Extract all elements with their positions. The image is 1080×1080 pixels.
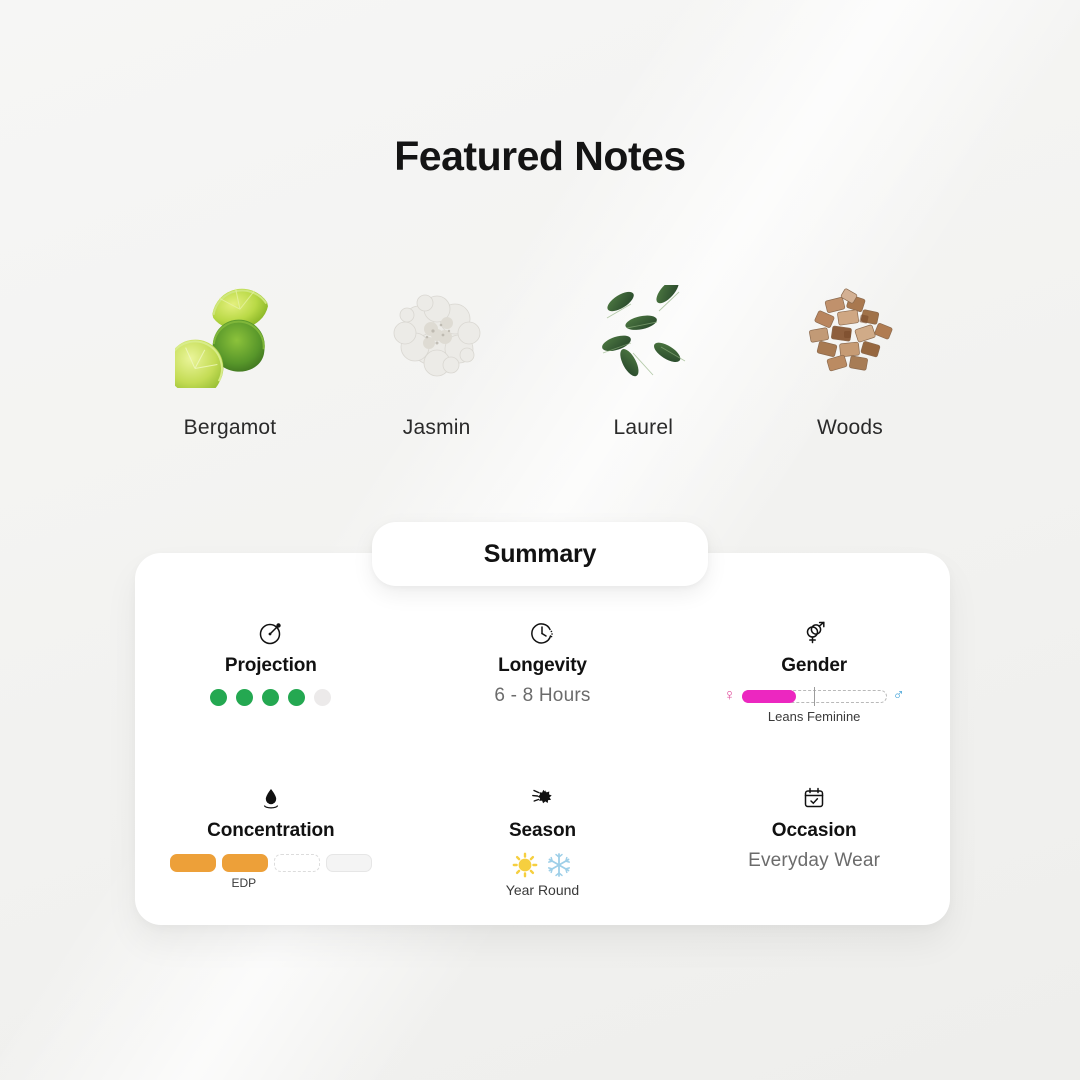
- jasmine-flowers-image: [357, 280, 517, 390]
- metric-season: Season: [407, 765, 679, 930]
- projection-dot-4: [288, 689, 305, 706]
- calendar-check-icon: [801, 783, 827, 813]
- projection-dots: [210, 689, 331, 706]
- projection-dot-2: [236, 689, 253, 706]
- metric-concentration: Concentration EDP: [135, 765, 407, 930]
- concentration-meter: EDP: [170, 854, 372, 890]
- summary-pill-label: Summary: [484, 540, 597, 569]
- metric-title: Occasion: [772, 820, 857, 842]
- concentration-segment-4: [326, 854, 372, 872]
- note-label: Laurel: [563, 416, 723, 440]
- metric-title: Gender: [781, 655, 847, 677]
- note-label: Woods: [770, 416, 930, 440]
- metric-occasion: Occasion Everyday Wear: [678, 765, 950, 930]
- note-item-jasmin[interactable]: Jasmin: [357, 280, 517, 440]
- male-symbol-icon: ♂: [893, 688, 905, 704]
- laurel-leaves-image: [563, 280, 723, 390]
- page-title: Featured Notes: [0, 133, 1080, 180]
- clock-icon: [529, 618, 555, 648]
- featured-notes-list: Bergamot: [150, 280, 930, 440]
- occasion-value: Everyday Wear: [748, 850, 880, 872]
- note-item-laurel[interactable]: Laurel: [563, 280, 723, 440]
- concentration-value-label: EDP: [231, 876, 256, 890]
- gender-slider[interactable]: ♀ ♂: [724, 688, 905, 704]
- season-emoji-row: [512, 852, 572, 878]
- projection-dot-5: [314, 689, 331, 706]
- note-item-bergamot[interactable]: Bergamot: [150, 280, 310, 440]
- metric-projection: Projection: [135, 600, 407, 765]
- gender-fill: [742, 690, 796, 703]
- female-symbol-icon: ♀: [724, 688, 736, 704]
- metric-longevity: Longevity 6 - 8 Hours: [407, 600, 679, 765]
- note-label: Bergamot: [150, 416, 310, 440]
- droplet-icon: [258, 783, 284, 813]
- gauge-icon: [258, 618, 284, 648]
- metric-title: Projection: [225, 655, 317, 677]
- concentration-segment-3: [274, 854, 320, 872]
- wood-chips-image: [770, 280, 930, 390]
- gender-track[interactable]: [742, 690, 887, 703]
- metric-title: Season: [509, 820, 576, 842]
- projection-dot-3: [262, 689, 279, 706]
- page-root: Featured Notes: [0, 0, 1080, 1080]
- summary-metrics-grid: Projection: [135, 600, 950, 930]
- concentration-bars: [170, 854, 372, 872]
- concentration-segment-2: [222, 854, 268, 872]
- concentration-segment-1: [170, 854, 216, 872]
- note-label: Jasmin: [357, 416, 517, 440]
- gender-venus-mars-icon: [801, 618, 827, 648]
- snowflake-icon: [546, 852, 572, 878]
- metric-title: Concentration: [207, 820, 334, 842]
- sun-cloud-icon: [529, 783, 555, 813]
- sun-icon: [512, 852, 538, 878]
- metric-title: Longevity: [498, 655, 587, 677]
- season-caption: Year Round: [506, 882, 579, 898]
- projection-dot-1: [210, 689, 227, 706]
- summary-pill: Summary: [372, 522, 708, 586]
- note-item-woods[interactable]: Woods: [770, 280, 930, 440]
- longevity-value: 6 - 8 Hours: [494, 685, 590, 707]
- lime-slices-image: [150, 280, 310, 390]
- gender-midpoint-tick: [814, 687, 815, 706]
- gender-caption: Leans Feminine: [768, 709, 861, 724]
- metric-gender: Gender ♀ ♂ Leans Feminine: [678, 600, 950, 765]
